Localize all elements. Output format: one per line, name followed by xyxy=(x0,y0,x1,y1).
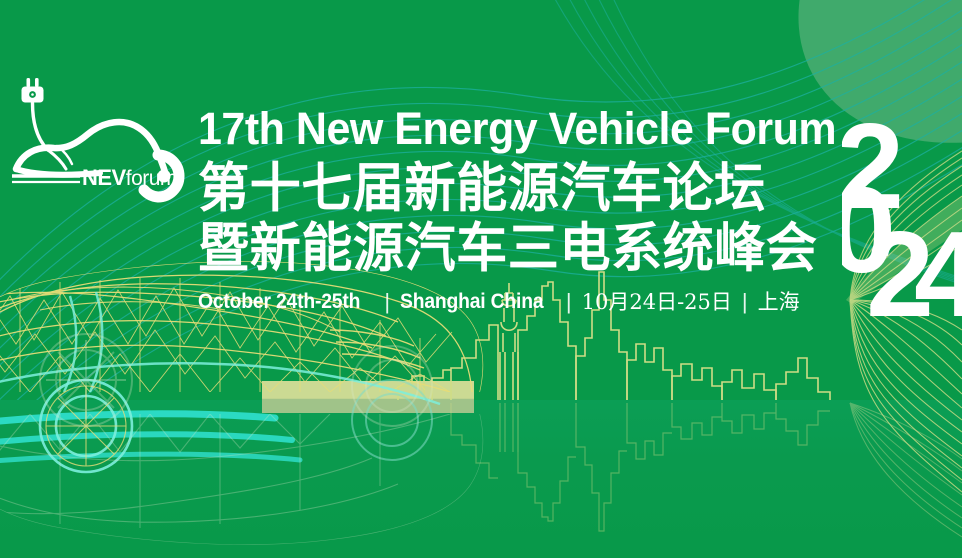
city-english: Shanghai China xyxy=(400,290,543,314)
title-english: 17th New Energy Vehicle Forum xyxy=(198,104,817,154)
logo-underline xyxy=(12,176,80,182)
year-digit-bottom-right: 4 xyxy=(914,206,962,320)
ground-highlight-bar xyxy=(262,381,474,413)
date-english: October 24th-25th xyxy=(198,290,360,314)
dateline-separator-2: | xyxy=(556,290,582,314)
dateline-separator-3: | xyxy=(732,290,758,314)
title-chinese-line1: 第十七届新能源汽车论坛 xyxy=(198,158,823,220)
ground-reflection-plane xyxy=(0,400,962,558)
charging-plug-icon xyxy=(22,78,44,103)
dateline: October 24th-25th | Shanghai China | 10月… xyxy=(198,290,846,314)
title-chinese-line2: 暨新能源汽车三电系统峰会 xyxy=(198,218,823,280)
conference-banner: NEVforum 17th New Energy Vehicle Forum 第… xyxy=(0,0,962,558)
year-2024: 2 0 2 4 xyxy=(842,104,962,320)
charging-cable xyxy=(33,103,49,150)
logo-wordmark-bold: NEVforum xyxy=(82,165,177,190)
nevforum-logo-mark: NEVforum xyxy=(8,72,198,212)
date-chinese: 10月24日-25日 xyxy=(582,290,732,314)
headline-block: 17th New Energy Vehicle Forum 第十七届新能源汽车论… xyxy=(198,104,846,314)
nevforum-logo[interactable]: NEVforum xyxy=(8,72,198,212)
city-chinese: 上海 xyxy=(758,290,800,314)
dateline-separator-1: | xyxy=(374,290,400,314)
